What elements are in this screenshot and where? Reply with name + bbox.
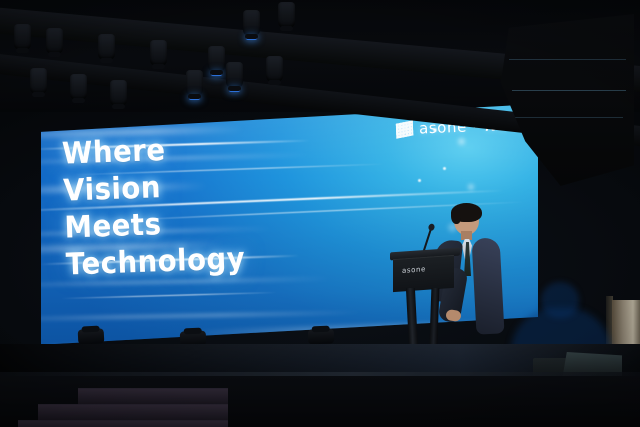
moving-head-light: [30, 68, 47, 94]
moving-head-light: [46, 28, 63, 54]
podium-brand-label: asone: [402, 265, 426, 275]
floor-wash-light: [308, 329, 335, 345]
moving-head-light: [243, 10, 260, 36]
step: [18, 420, 228, 427]
moving-head-light: [186, 70, 203, 96]
stage-scene: asone × NOV Where Vision Meets Technolog…: [0, 0, 640, 427]
step: [78, 388, 228, 405]
step: [38, 404, 228, 421]
moving-head-light: [70, 74, 87, 100]
headline-line-1: Where: [62, 129, 357, 169]
moving-head-light: [278, 2, 295, 28]
floor-wash-light: [78, 328, 105, 344]
headline-line-2: Vision: [63, 166, 358, 206]
moving-head-light: [208, 46, 225, 72]
moving-head-light: [98, 34, 115, 60]
moving-head-light: [226, 62, 243, 88]
slide-headline: Where Vision Meets Technology: [62, 128, 387, 287]
moving-head-light: [266, 56, 283, 82]
moving-head-light: [14, 24, 31, 50]
presenter-hair-side: [451, 208, 461, 224]
headline-line-4: Technology: [65, 240, 360, 280]
headline-line-3: Meets: [64, 203, 359, 243]
asone-grid-icon: [396, 120, 413, 138]
moving-head-light: [110, 80, 127, 106]
stage-steps: [18, 388, 228, 427]
moving-head-light: [150, 40, 167, 66]
presenter-shoulder-right: [472, 237, 505, 334]
